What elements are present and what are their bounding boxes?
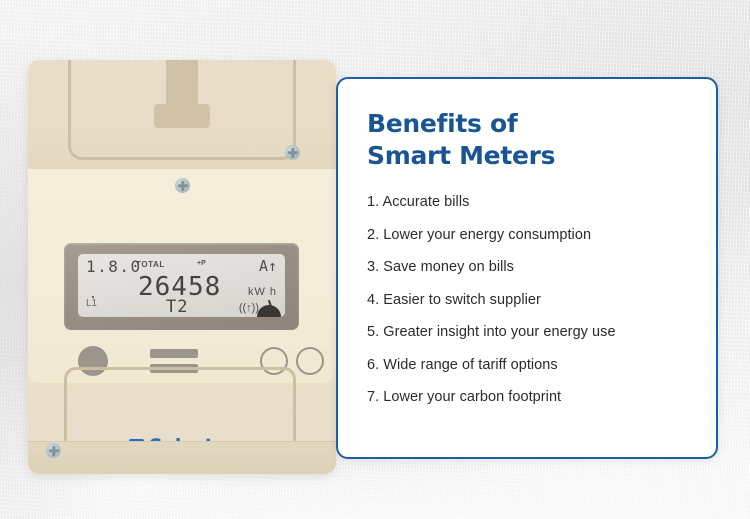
lcd-display: 1.8.0 TOTAL +P A↑ 26458 kW h T2 L1 ((↑))	[78, 254, 285, 317]
lcd-bezel: 1.8.0 TOTAL +P A↑ 26458 kW h T2 L1 ((↑))	[64, 243, 299, 330]
list-item: 2. Lower your energy consumption	[367, 227, 690, 243]
meter-base-strip	[28, 441, 336, 474]
screenshot-stage: 1.8.0 TOTAL +P A↑ 26458 kW h T2 L1 ((↑))	[0, 0, 750, 519]
lcd-tariff-label: T2	[166, 297, 188, 317]
page-title: Benefits of Smart Meters	[367, 108, 716, 172]
meter-bar-mark	[150, 349, 198, 358]
lcd-direction-label: +P	[197, 260, 206, 267]
list-item: 1. Accurate bills	[367, 194, 690, 210]
screw-icon	[46, 443, 61, 458]
benefits-list: 1. Accurate bills2. Lower your energy co…	[338, 194, 716, 405]
meter-terminal-tab-foot	[154, 104, 210, 128]
screw-icon	[175, 178, 190, 193]
lcd-phase-label: L1	[86, 298, 97, 309]
meter-bottom-panel: Selectra	[28, 383, 336, 474]
lcd-unit-label: kW h	[248, 286, 277, 298]
lcd-obis-code: 1.8.0	[86, 257, 142, 276]
antenna-signal-icon: ((↑))	[239, 302, 259, 314]
dome-icon	[257, 305, 281, 317]
meter-front-panel: 1.8.0 TOTAL +P A↑ 26458 kW h T2 L1 ((↑))	[28, 169, 336, 383]
list-item: 5. Greater insight into your energy use	[367, 324, 690, 340]
list-item: 6. Wide range of tariff options	[367, 357, 690, 373]
benefits-card: Benefits of Smart Meters 1. Accurate bil…	[336, 77, 718, 459]
lcd-alpha-symbol: A↑	[259, 257, 277, 275]
lcd-total-label: TOTAL	[136, 260, 165, 269]
list-item: 4. Easier to switch supplier	[367, 292, 690, 308]
list-item: 3. Save money on bills	[367, 259, 690, 275]
meter-led-indicator-2	[296, 347, 324, 375]
list-item: 7. Lower your carbon footprint	[367, 389, 690, 405]
smart-meter-illustration: 1.8.0 TOTAL +P A↑ 26458 kW h T2 L1 ((↑))	[28, 60, 336, 474]
screw-icon	[285, 145, 300, 160]
